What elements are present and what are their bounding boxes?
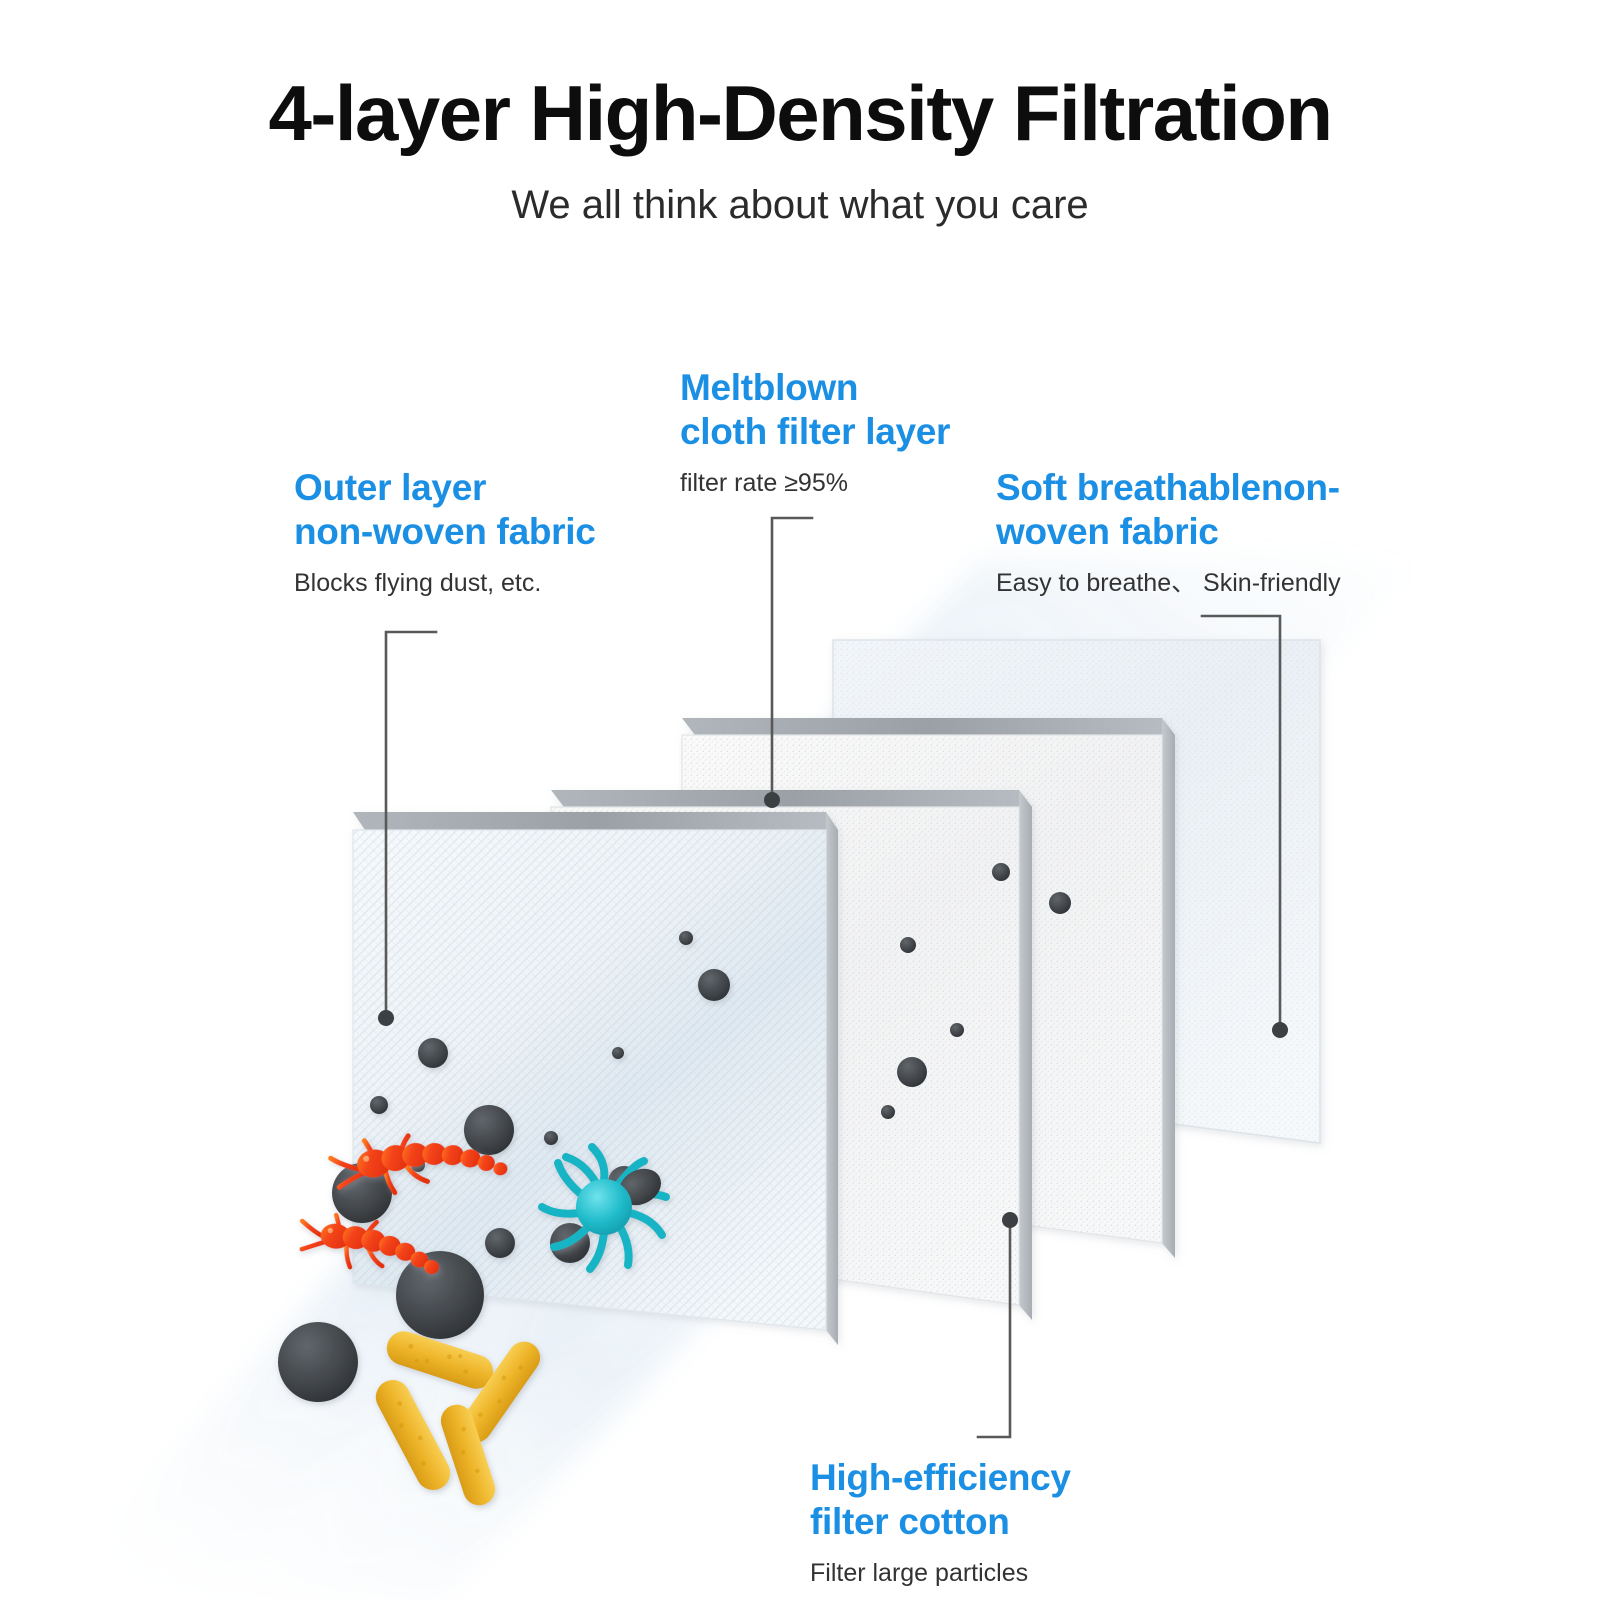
page-title: 4-layer High-Density Filtration xyxy=(0,0,1600,155)
leader-dot-outer-layer xyxy=(378,1010,394,1026)
callout-outer-layer: Outer layer non-woven fabric Blocks flyi… xyxy=(294,466,714,600)
callout-soft-breathable: Soft breathablenon- woven fabric Easy to… xyxy=(996,466,1416,600)
callout-soft-breathable-subtitle: Easy to breathe、 Skin-friendly xyxy=(996,553,1416,600)
layers-illustration xyxy=(0,0,1600,1600)
filtration-diagram xyxy=(0,0,1600,1600)
callout-outer-layer-subtitle: Blocks flying dust, etc. xyxy=(294,553,714,600)
callout-filter-cotton: High-efficiency filter cotton Filter lar… xyxy=(810,1456,1230,1590)
leader-dot-soft-breathable xyxy=(1272,1022,1288,1038)
callout-soft-breathable-title: Soft breathablenon- woven fabric xyxy=(996,466,1416,553)
callout-meltblown-title: Meltblown cloth filter layer xyxy=(680,366,1080,453)
infographic-page: 4-layer High-Density Filtration We all t… xyxy=(0,0,1600,1600)
page-subtitle: We all think about what you care xyxy=(0,155,1600,228)
callout-filter-cotton-subtitle: Filter large particles xyxy=(810,1543,1230,1590)
callout-outer-layer-title: Outer layer non-woven fabric xyxy=(294,466,714,553)
callout-filter-cotton-title: High-efficiency filter cotton xyxy=(810,1456,1230,1543)
header: 4-layer High-Density Filtration We all t… xyxy=(0,0,1600,228)
leader-dot-meltblown xyxy=(764,792,780,808)
leader-dot-filter-cotton xyxy=(1002,1212,1018,1228)
